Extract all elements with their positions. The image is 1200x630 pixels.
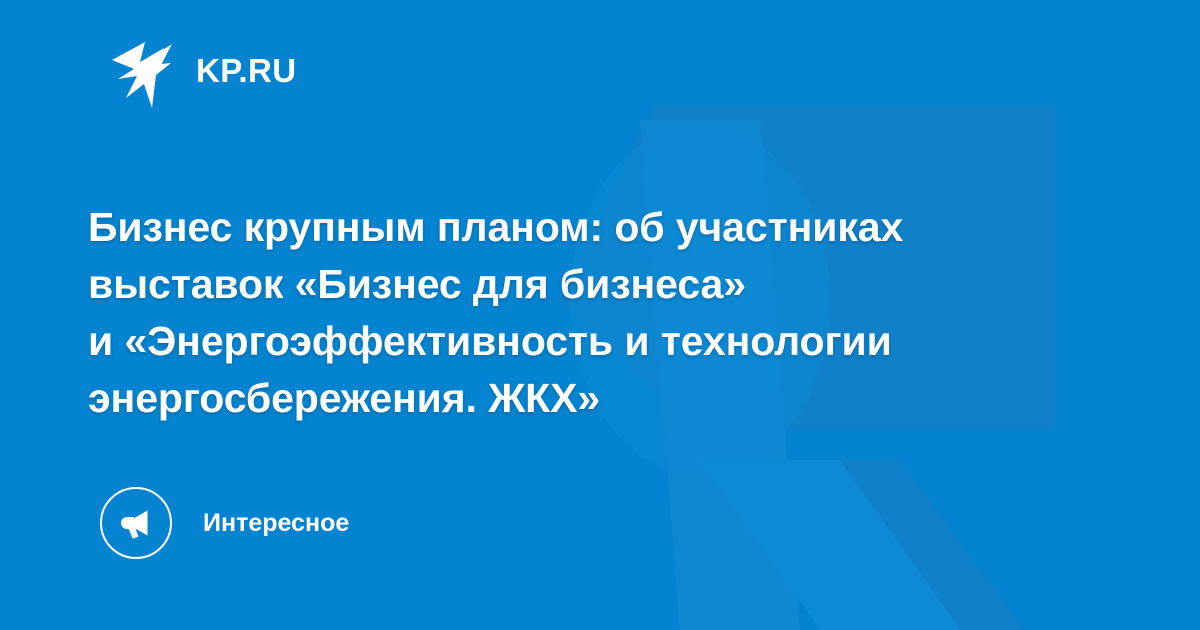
category-badge[interactable]: Интересное [100, 487, 349, 559]
headline-line-3: и «Энергоэффективность и технологии [88, 313, 1098, 370]
headline-line-4: энергосбережения. ЖКХ» [88, 370, 1098, 427]
social-share-card: KP.RU Бизнес крупным планом: об участник… [0, 0, 1200, 630]
page-title: Бизнес крупным планом: об участниках выс… [88, 199, 1098, 427]
headline-line-2: выставок «Бизнес для бизнеса» [88, 256, 1098, 313]
headline-line-1: Бизнес крупным планом: об участниках [88, 199, 1098, 256]
brand-lockup[interactable]: KP.RU [104, 32, 296, 108]
megaphone-icon-circle [100, 487, 172, 559]
megaphone-icon [116, 503, 156, 543]
category-badge-label: Интересное [203, 511, 349, 536]
kp-swallow-bird-logo-icon [104, 32, 180, 108]
brand-name: KP.RU [196, 54, 296, 87]
